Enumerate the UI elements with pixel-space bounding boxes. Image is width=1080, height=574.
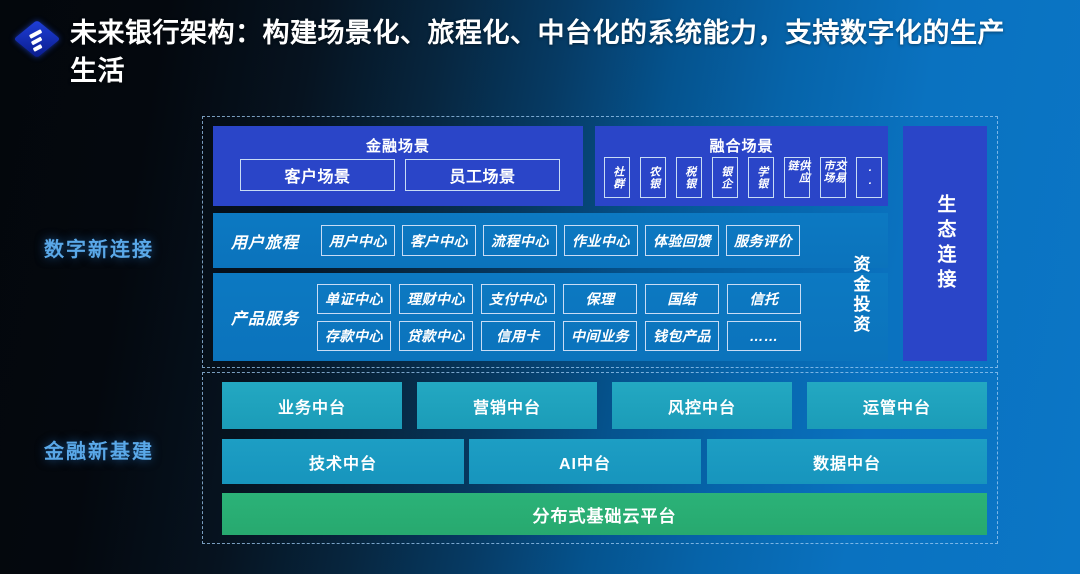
chip-fusion-supply-chain[interactable]: 供应链 bbox=[784, 157, 810, 198]
page-header: 未来银行架构：构建场景化、旅程化、中台化的系统能力，支持数字化的生产生活 bbox=[0, 0, 1080, 105]
platform-marketing-middle[interactable]: 营销中台 bbox=[417, 382, 597, 429]
capital-investment-label: 资金投资 bbox=[842, 240, 878, 350]
user-journey-panel[interactable]: 用户旅程 用户中心 客户中心 流程中心 作业中心 体验回馈 服务评价 bbox=[213, 213, 888, 268]
chip-operation-center[interactable]: 作业中心 bbox=[564, 225, 638, 256]
product-service-label: 产品服务 bbox=[231, 273, 299, 361]
chip-customer-scene[interactable]: 客户场景 bbox=[240, 159, 395, 191]
chip-document-center[interactable]: 单证中心 bbox=[317, 284, 391, 314]
fusion-scene-title: 融合场景 bbox=[595, 135, 888, 156]
fusion-scene-panel[interactable]: 融合场景 社群 农银 税银 银企 学银 供应链 交易市场 ·· bbox=[595, 126, 888, 206]
chip-intl-settlement[interactable]: 国结 bbox=[645, 284, 719, 314]
platform-operations-middle[interactable]: 运管中台 bbox=[807, 382, 987, 429]
user-journey-label: 用户旅程 bbox=[231, 213, 299, 268]
chip-fusion-trading-market[interactable]: 交易市场 bbox=[820, 157, 846, 198]
chip-fusion-more[interactable]: ·· bbox=[856, 157, 882, 198]
platform-technology-middle[interactable]: 技术中台 bbox=[222, 439, 464, 484]
financial-scene-title: 金融场景 bbox=[213, 135, 583, 156]
chip-wallet-product[interactable]: 钱包产品 bbox=[645, 321, 719, 351]
chip-more-products[interactable]: …… bbox=[727, 321, 801, 351]
chip-wealth-center[interactable]: 理财中心 bbox=[399, 284, 473, 314]
page-title: 未来银行架构：构建场景化、旅程化、中台化的系统能力，支持数字化的生产生活 bbox=[70, 14, 1030, 91]
chip-intermediary-business[interactable]: 中间业务 bbox=[563, 321, 637, 351]
chip-fusion-agri-bank[interactable]: 农银 bbox=[640, 157, 666, 198]
platform-ai-middle[interactable]: AI中台 bbox=[469, 439, 701, 484]
ecosystem-connect-panel[interactable]: 生态连接 bbox=[903, 126, 987, 361]
chip-fusion-community[interactable]: 社群 bbox=[604, 157, 630, 198]
chip-payment-center[interactable]: 支付中心 bbox=[481, 284, 555, 314]
distributed-cloud-platform-bar[interactable]: 分布式基础云平台 bbox=[222, 493, 987, 535]
chip-fusion-bank-enterprise[interactable]: 银企 bbox=[712, 157, 738, 198]
chip-loan-center[interactable]: 贷款中心 bbox=[399, 321, 473, 351]
financial-scene-panel[interactable]: 金融场景 客户场景 员工场景 bbox=[213, 126, 583, 206]
chip-user-center[interactable]: 用户中心 bbox=[321, 225, 395, 256]
chip-fusion-edu-bank[interactable]: 学银 bbox=[748, 157, 774, 198]
chip-experience-feedback[interactable]: 体验回馈 bbox=[645, 225, 719, 256]
product-service-panel[interactable]: 产品服务 单证中心 理财中心 支付中心 保理 国结 信托 存款中心 贷款中心 信… bbox=[213, 273, 888, 361]
chip-customer-center[interactable]: 客户中心 bbox=[402, 225, 476, 256]
chip-service-evaluation[interactable]: 服务评价 bbox=[726, 225, 800, 256]
section-label-financial-infrastructure: 金融新基建 bbox=[44, 435, 154, 464]
chip-credit-card[interactable]: 信用卡 bbox=[481, 321, 555, 351]
chip-fusion-tax-bank[interactable]: 税银 bbox=[676, 157, 702, 198]
chip-trust[interactable]: 信托 bbox=[727, 284, 801, 314]
chip-deposit-center[interactable]: 存款中心 bbox=[317, 321, 391, 351]
chip-employee-scene[interactable]: 员工场景 bbox=[405, 159, 560, 191]
platform-data-middle[interactable]: 数据中台 bbox=[707, 439, 987, 484]
brand-diamond-logo bbox=[18, 20, 58, 60]
chip-process-center[interactable]: 流程中心 bbox=[483, 225, 557, 256]
ecosystem-connect-label: 生态连接 bbox=[903, 126, 987, 361]
chip-factoring[interactable]: 保理 bbox=[563, 284, 637, 314]
section-label-digital-connection: 数字新连接 bbox=[44, 233, 154, 262]
platform-risk-control-middle[interactable]: 风控中台 bbox=[612, 382, 792, 429]
platform-business-middle[interactable]: 业务中台 bbox=[222, 382, 402, 429]
